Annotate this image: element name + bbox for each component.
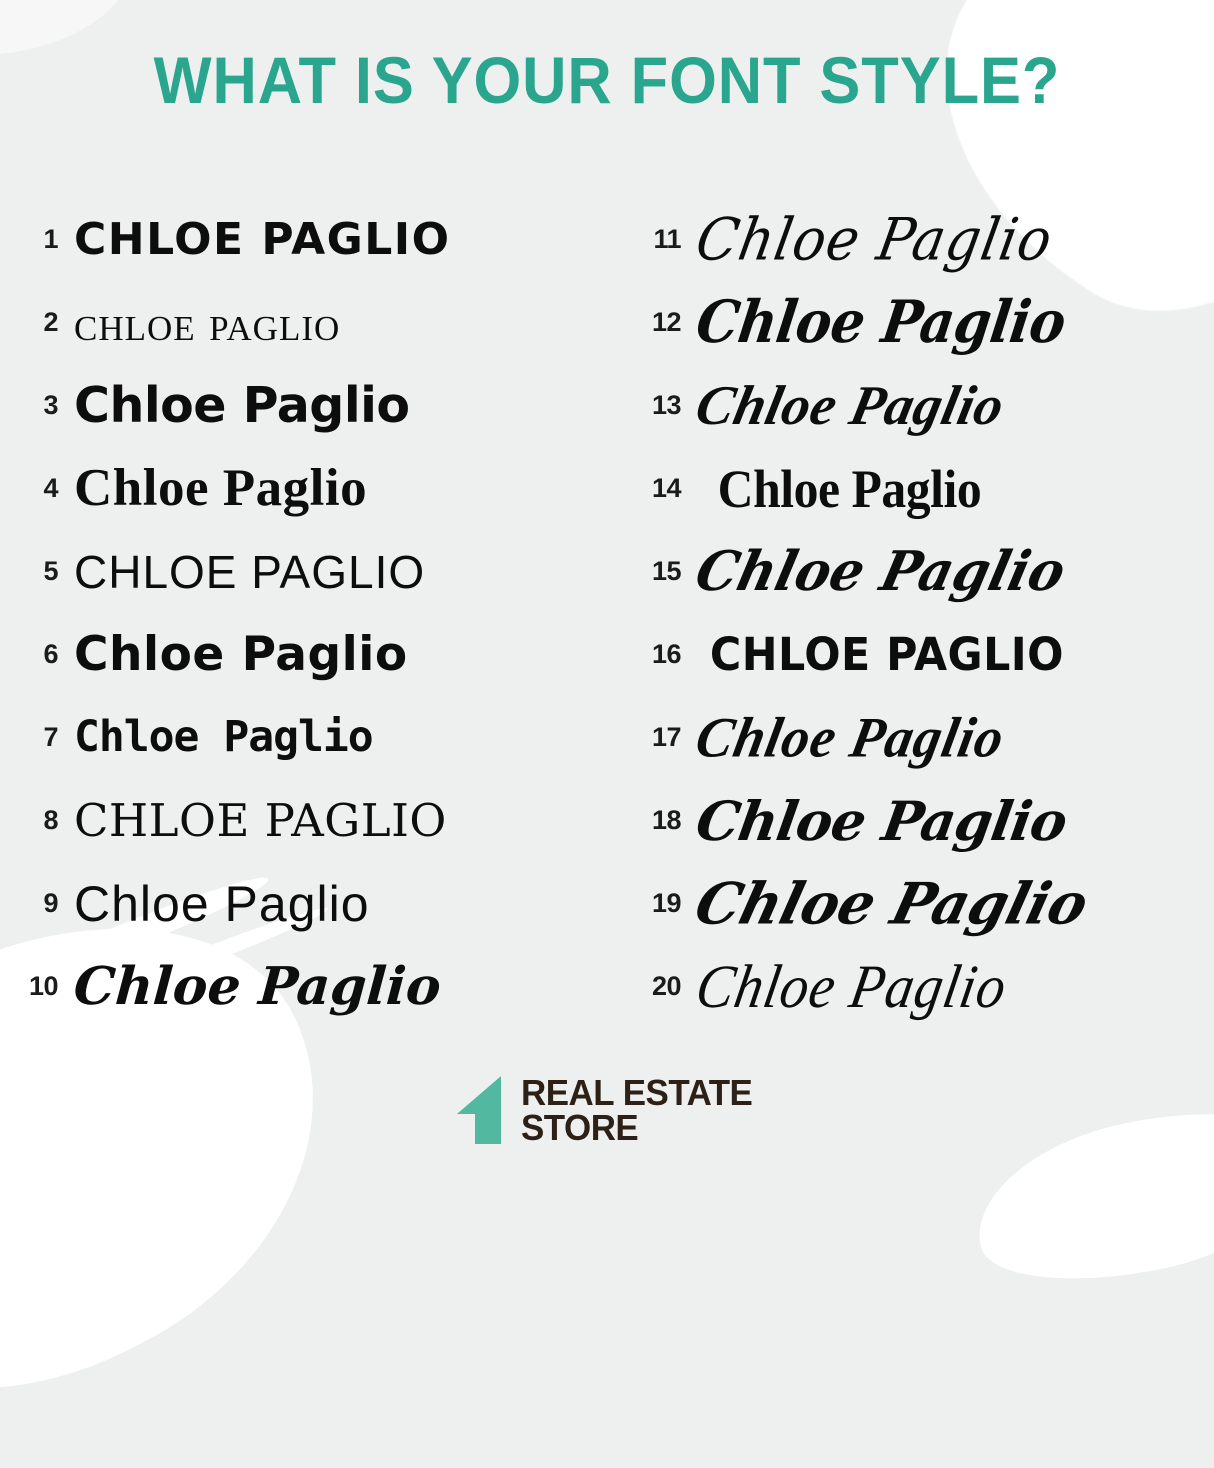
list-item-number: 4: [0, 473, 74, 504]
list-item[interactable]: 12 Chloe Paglio: [607, 281, 1214, 364]
font-list-column-right: 11 Chloe Paglio 12 Chloe Paglio 13 Chloe…: [607, 198, 1214, 1028]
list-item[interactable]: 18 Chloe Paglio: [607, 779, 1214, 862]
brand-logo-line-2: STORE: [521, 1110, 752, 1145]
list-item-number: 11: [607, 224, 697, 255]
font-sample-list: 1 CHLOE PAGLIO 2 Chloe Paglio 3 Chloe Pa…: [0, 198, 1214, 1028]
list-item[interactable]: 1 CHLOE PAGLIO: [0, 198, 607, 281]
list-item-number: 16: [607, 639, 697, 670]
list-item-number: 2: [0, 307, 74, 338]
list-item-sample: Chloe Paglio: [74, 631, 607, 678]
list-item-sample: Chloe Paglio: [693, 794, 1214, 848]
list-item[interactable]: 6 Chloe Paglio: [0, 613, 607, 696]
list-item[interactable]: 19 Chloe Paglio: [607, 862, 1214, 945]
list-item[interactable]: 7 Chloe Paglio: [0, 696, 607, 779]
list-item-sample: Chloe Paglio: [74, 879, 607, 929]
list-item-number: 7: [0, 722, 74, 753]
list-item-sample: Chloe Paglio: [691, 378, 1214, 434]
list-item-number: 5: [0, 556, 74, 587]
list-item-number: 15: [607, 556, 697, 587]
list-item-number: 18: [607, 805, 697, 836]
list-item-sample: Chloe Paglio: [690, 875, 1214, 932]
list-item-number: 19: [607, 888, 697, 919]
list-item-number: 9: [0, 888, 74, 919]
page-title: WHAT IS YOUR FONT STYLE?: [42, 44, 1171, 117]
list-item[interactable]: 5 CHLOE PAGLIO: [0, 530, 607, 613]
list-item-number: 12: [607, 307, 697, 338]
list-item[interactable]: 11 Chloe Paglio: [607, 198, 1214, 281]
list-item[interactable]: 17 Chloe Paglio: [607, 696, 1214, 779]
list-item-sample: Chloe Paglio: [74, 462, 607, 515]
brand-logo: REAL ESTATE STORE: [0, 1074, 1214, 1146]
list-item[interactable]: 16 CHLOE PAGLIO: [607, 613, 1214, 696]
list-item[interactable]: 13 Chloe Paglio: [607, 364, 1214, 447]
list-item-number: 13: [607, 390, 697, 421]
brand-logo-text: REAL ESTATE STORE: [521, 1075, 760, 1146]
list-item[interactable]: 15 Chloe Paglio: [607, 530, 1214, 613]
brand-logo-line-1: REAL ESTATE: [521, 1075, 752, 1110]
list-item-sample: Chloe Paglio: [74, 381, 607, 430]
list-item-sample: Chloe Paglio: [693, 293, 1214, 351]
list-item-sample: Chloe Paglio: [691, 544, 1214, 599]
list-item-number: 20: [607, 971, 697, 1002]
list-item-sample: CHLOE PAGLIO: [710, 632, 1201, 677]
list-item-sample: Chloe Paglio: [74, 298, 607, 348]
list-item-number: 3: [0, 390, 74, 421]
list-item-sample: CHLOE PAGLIO: [74, 798, 607, 843]
list-item-sample: Chloe Paglio: [692, 210, 1214, 268]
list-item-sample: Chloe Paglio: [72, 961, 609, 1013]
list-item-sample: Chloe Paglio: [74, 716, 607, 759]
list-item[interactable]: 14 Chloe Paglio: [607, 447, 1214, 530]
list-item-number: 10: [0, 971, 74, 1002]
list-item[interactable]: 4 Chloe Paglio: [0, 447, 607, 530]
list-item-sample: Chloe Paglio: [692, 956, 1214, 1018]
list-item-number: 14: [607, 473, 697, 504]
font-list-column-left: 1 CHLOE PAGLIO 2 Chloe Paglio 3 Chloe Pa…: [0, 198, 607, 1028]
list-item-sample: Chloe Paglio: [691, 709, 1214, 766]
list-item-number: 1: [0, 224, 74, 255]
list-item[interactable]: 2 Chloe Paglio: [0, 281, 607, 364]
list-item[interactable]: 8 CHLOE PAGLIO: [0, 779, 607, 862]
list-item[interactable]: 20 Chloe Paglio: [607, 945, 1214, 1028]
list-item-number: 17: [607, 722, 697, 753]
list-item-number: 8: [0, 805, 74, 836]
list-item[interactable]: 9 Chloe Paglio: [0, 862, 607, 945]
list-item[interactable]: 3 Chloe Paglio: [0, 364, 607, 447]
house-arrow-logo-icon: [455, 1074, 507, 1146]
list-item-sample: Chloe Paglio: [718, 462, 1194, 516]
list-item[interactable]: 10 Chloe Paglio: [0, 945, 607, 1028]
list-item-number: 6: [0, 639, 74, 670]
list-item-sample: CHLOE PAGLIO: [74, 549, 607, 595]
list-item-sample: CHLOE PAGLIO: [74, 218, 607, 262]
